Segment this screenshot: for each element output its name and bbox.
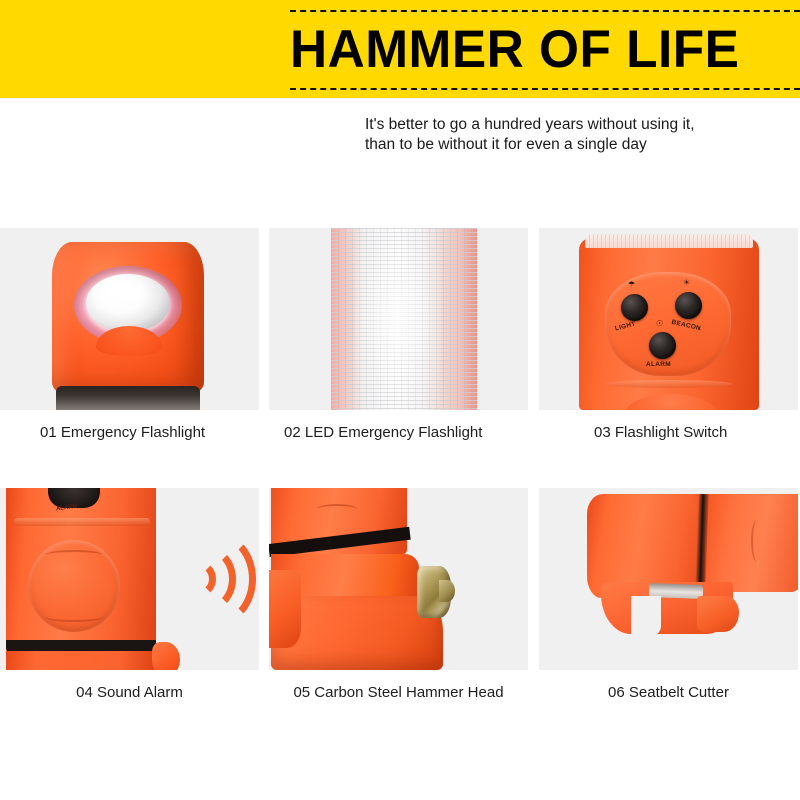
feature-caption-02: 02 LED Emergency Flashlight: [269, 424, 528, 441]
feature-card-01[interactable]: 01 Emergency Flashlight: [0, 228, 259, 441]
feature-image-01: [0, 228, 259, 410]
alarm-icon: ☉: [656, 320, 663, 328]
lens-cap: [585, 234, 753, 248]
feature-grid: 01 Emergency Flashlight 02 LED Emergency…: [0, 228, 800, 748]
page-title: HAMMER OF LIFE: [290, 19, 739, 81]
spike-tip: [439, 580, 455, 602]
feature-image-05: [269, 488, 528, 670]
dotted-rule-bottom: [290, 88, 800, 90]
grille-slot-bottom: [45, 612, 103, 622]
upper-dimple: [317, 504, 357, 514]
cutter-hook: [152, 642, 180, 670]
feature-caption-03: 03 Flashlight Switch: [539, 424, 798, 441]
feature-image-06: [539, 488, 798, 670]
feature-caption-05: 05 Carbon Steel Hammer Head: [269, 684, 528, 701]
feature-caption-06: 06 Seatbelt Cutter: [539, 684, 798, 701]
body-dimple: [751, 520, 763, 562]
feature-card-05[interactable]: 05 Carbon Steel Hammer Head: [269, 488, 528, 701]
feature-card-06[interactable]: 06 Seatbelt Cutter: [539, 488, 798, 701]
flashlight-icon: ☂: [628, 281, 635, 289]
alarm-button[interactable]: [649, 332, 676, 359]
feature-card-03[interactable]: ☂ LIGHT ☀ BEACON ☉ ALARM 03 Flashlight S…: [539, 228, 798, 441]
feature-row-top: 01 Emergency Flashlight 02 LED Emergency…: [0, 228, 800, 488]
dotted-rule-top: [290, 10, 800, 12]
flashlight-base: [56, 386, 200, 410]
body-seam: [605, 380, 733, 388]
feature-card-04[interactable]: ALARM 04 Sound Alarm: [0, 488, 259, 701]
led-highlight: [106, 280, 144, 300]
ribbed-lens-tube: [331, 228, 477, 410]
hook-gap: [631, 596, 661, 636]
alarm-button-label: ALARM: [646, 362, 671, 369]
feature-image-02: [269, 228, 528, 410]
feature-card-02[interactable]: 02 LED Emergency Flashlight: [269, 228, 528, 441]
feature-row-bottom: ALARM 04 Sound Alarm: [0, 488, 800, 748]
header-banner: HAMMER OF LIFE: [0, 0, 800, 98]
feature-image-04: ALARM: [0, 488, 259, 670]
body-bottom: [6, 651, 156, 670]
subtitle-text: It's better to go a hundred years withou…: [365, 115, 795, 155]
light-button[interactable]: [621, 294, 648, 321]
body-ledge: [14, 518, 150, 526]
grille-slot-top: [45, 550, 103, 560]
feature-caption-04: 04 Sound Alarm: [0, 684, 259, 701]
sound-wave-icon-3: [178, 532, 256, 626]
hammer-side-hook: [269, 570, 301, 648]
feature-caption-01: 01 Emergency Flashlight: [0, 424, 259, 441]
beacon-icon: ☀: [683, 279, 690, 287]
beacon-button[interactable]: [675, 292, 702, 319]
feature-image-03: ☂ LIGHT ☀ BEACON ☉ ALARM: [539, 228, 798, 410]
cutter-hook-tip: [697, 596, 739, 632]
